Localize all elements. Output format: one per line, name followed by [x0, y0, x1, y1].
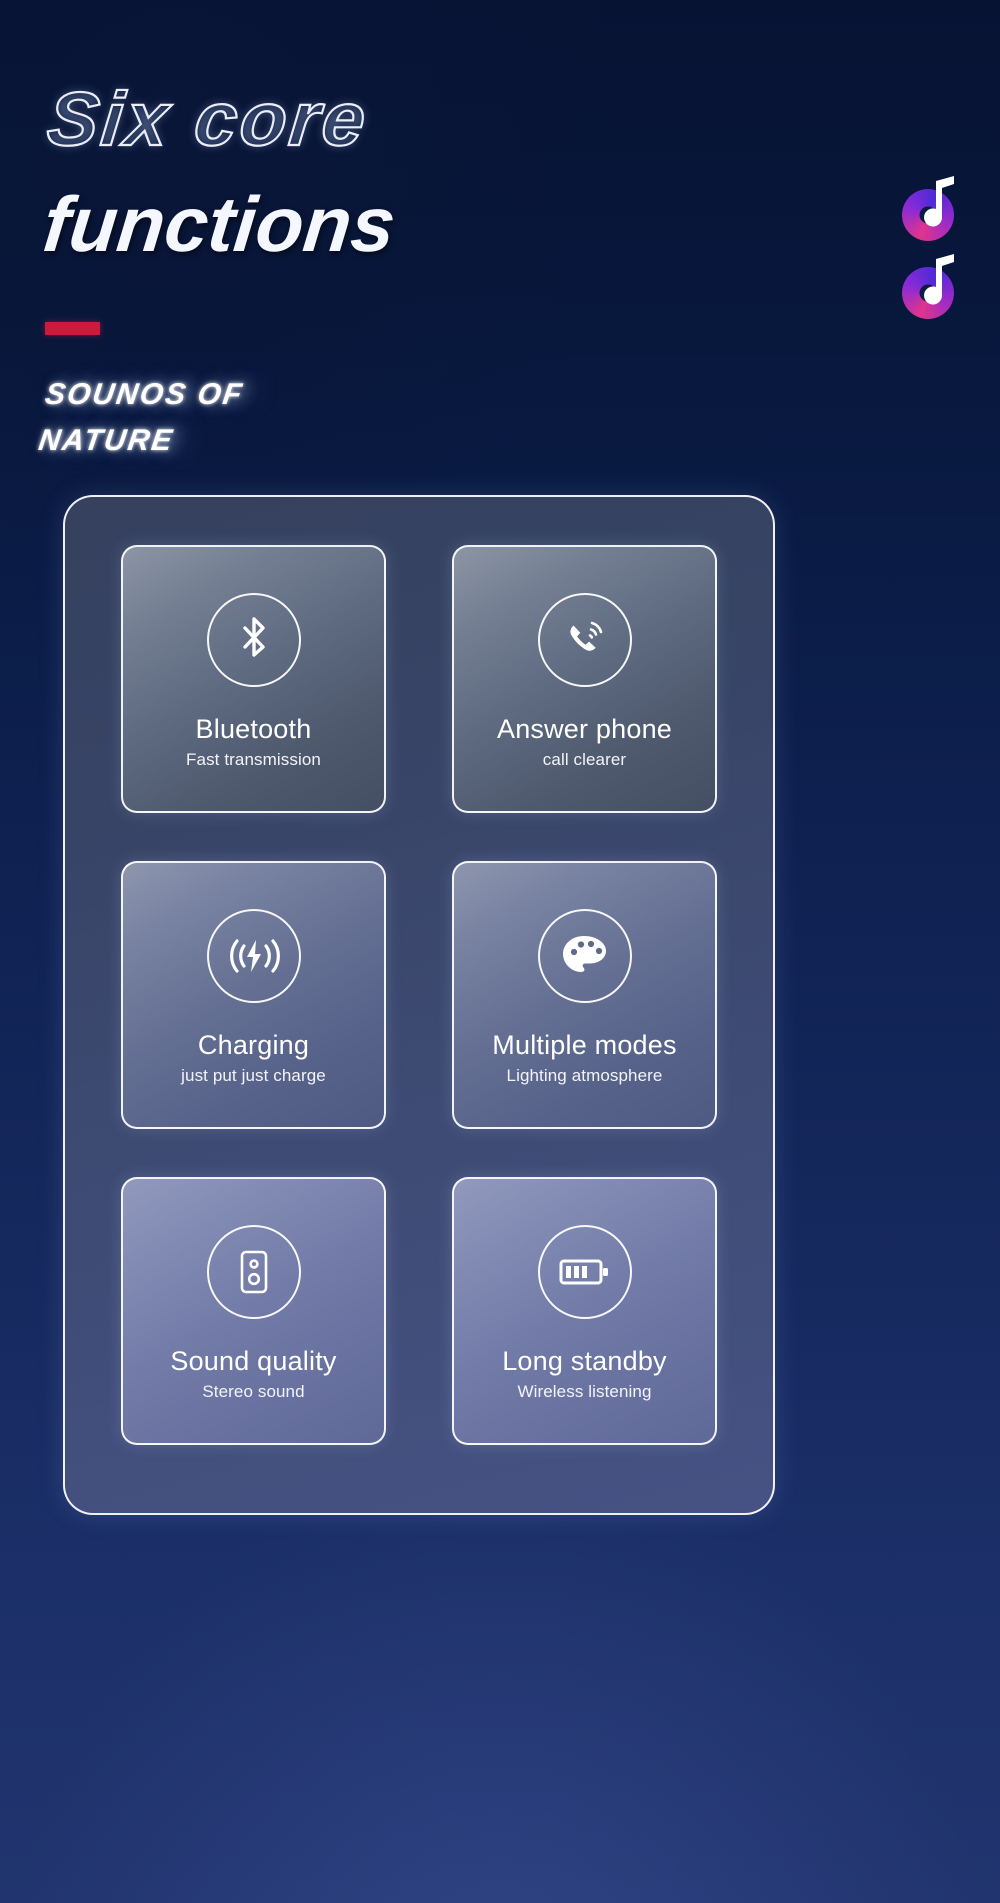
header: Six core functions SOUNOS OF NATURE	[0, 0, 1000, 560]
feature-row: Bluetooth Fast transmission Answer phone…	[121, 545, 717, 813]
feature-tile-answer-phone[interactable]: Answer phone call clearer	[452, 545, 717, 813]
music-note-icon	[902, 253, 964, 315]
page-title-line1: Six core	[44, 82, 372, 158]
battery-icon	[538, 1225, 632, 1319]
feature-title: Bluetooth	[196, 715, 312, 743]
feature-title: Long standby	[502, 1347, 667, 1375]
feature-title: Multiple modes	[492, 1031, 676, 1059]
bluetooth-icon	[207, 593, 301, 687]
wireless-charging-icon	[207, 909, 301, 1003]
feature-row: Charging just put just charge Multiple m…	[121, 861, 717, 1129]
feature-title: Answer phone	[497, 715, 672, 743]
subtitle: SOUNOS OF NATURE	[36, 372, 469, 464]
feature-subtitle: just put just charge	[181, 1066, 326, 1086]
subtitle-line1: SOUNOS OF	[43, 378, 246, 411]
palette-icon	[538, 909, 632, 1003]
feature-tile-sound-quality[interactable]: Sound quality Stereo sound	[121, 1177, 386, 1445]
feature-subtitle: Wireless listening	[517, 1382, 651, 1402]
phone-call-icon	[538, 593, 632, 687]
feature-tile-long-standby[interactable]: Long standby Wireless listening	[452, 1177, 717, 1445]
feature-tile-bluetooth[interactable]: Bluetooth Fast transmission	[121, 545, 386, 813]
feature-title: Charging	[198, 1031, 309, 1059]
subtitle-line2: NATURE	[36, 418, 462, 464]
feature-subtitle: Lighting atmosphere	[507, 1066, 663, 1086]
feature-subtitle: Fast transmission	[186, 750, 321, 770]
feature-tile-charging[interactable]: Charging just put just charge	[121, 861, 386, 1129]
page-title-line2: functions	[40, 185, 399, 263]
feature-row: Sound quality Stereo sound Long standby …	[121, 1177, 717, 1445]
feature-title: Sound quality	[170, 1347, 336, 1375]
features-panel: Bluetooth Fast transmission Answer phone…	[63, 495, 775, 1515]
speaker-icon	[207, 1225, 301, 1319]
feature-subtitle: Stereo sound	[202, 1382, 304, 1402]
feature-tile-multiple-modes[interactable]: Multiple modes Lighting atmosphere	[452, 861, 717, 1129]
music-note-icon	[902, 175, 964, 237]
accent-bar	[45, 322, 100, 335]
music-notes-decoration	[880, 175, 970, 365]
feature-subtitle: call clearer	[543, 750, 626, 770]
